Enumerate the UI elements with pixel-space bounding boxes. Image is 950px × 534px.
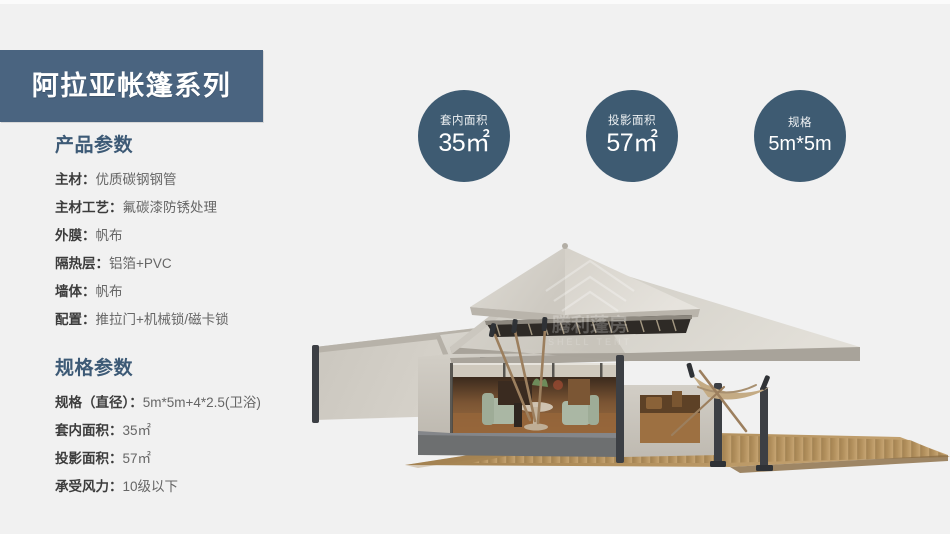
spec-label: 主材：	[55, 172, 96, 187]
spec-label: 投影面积：	[55, 451, 123, 466]
stat-label: 套内面积	[440, 116, 488, 128]
title-banner: 阿拉亚帐篷系列	[0, 50, 263, 122]
spec-value: 35㎡	[123, 423, 152, 438]
stat-value: 5m*5m	[768, 134, 831, 154]
spec-row: 墙体：帆布	[55, 278, 330, 306]
spec-label: 墙体：	[55, 284, 96, 299]
luxury-tent-render: 腾利蓬房 SHELL TENT	[300, 235, 950, 500]
spec-row: 承受风力：10级以下	[55, 473, 330, 501]
svg-text:腾利蓬房: 腾利蓬房	[551, 313, 628, 336]
stat-label: 规格	[788, 118, 812, 130]
stat-value: 57㎡	[606, 131, 657, 156]
stat-badge-dimensions: 规格 5m*5m	[754, 90, 846, 182]
spec-row: 主材：优质碳钢钢管	[55, 166, 330, 194]
page-title: 阿拉亚帐篷系列	[32, 73, 232, 100]
spec-row: 套内面积：35㎡	[55, 417, 330, 445]
spec-value: 优质碳钢钢管	[96, 172, 177, 187]
spec-label: 套内面积：	[55, 423, 123, 438]
spec-value: 推拉门+机械锁/磁卡锁	[96, 312, 229, 327]
spec-label: 主材工艺：	[55, 200, 123, 215]
spec-value: 氟碳漆防锈处理	[123, 200, 218, 215]
spec-row: 配置：推拉门+机械锁/磁卡锁	[55, 306, 330, 334]
spec-value: 铝箔+PVC	[109, 256, 172, 271]
spec-panel: 产品参数 主材：优质碳钢钢管 主材工艺：氟碳漆防锈处理 外膜：帆布 隔热层：铝箔…	[0, 130, 330, 501]
spec-label: 承受风力：	[55, 479, 123, 494]
spec-label: 外膜：	[55, 228, 96, 243]
spec-params-title: 规格参数	[55, 353, 330, 380]
spec-value: 帆布	[96, 284, 123, 299]
stat-label: 投影面积	[608, 116, 656, 128]
spec-label: 隔热层：	[55, 256, 109, 271]
stat-badge-projected-area: 投影面积 57㎡	[586, 90, 678, 182]
svg-text:SHELL TENT: SHELL TENT	[548, 337, 632, 347]
spec-params-section: 规格参数 规格（直径）：5m*5m+4*2.5(卫浴) 套内面积：35㎡ 投影面…	[0, 353, 330, 501]
spec-label: 配置：	[55, 312, 96, 327]
spec-row: 规格（直径）：5m*5m+4*2.5(卫浴)	[55, 389, 330, 417]
spec-row: 外膜：帆布	[55, 222, 330, 250]
stat-value: 35㎡	[438, 131, 489, 156]
spec-label: 规格（直径）：	[55, 395, 143, 410]
product-params-title: 产品参数	[55, 130, 330, 157]
product-params-section: 产品参数 主材：优质碳钢钢管 主材工艺：氟碳漆防锈处理 外膜：帆布 隔热层：铝箔…	[0, 130, 330, 334]
spec-value: 57㎡	[123, 451, 152, 466]
slide-canvas: 阿拉亚帐篷系列 产品参数 主材：优质碳钢钢管 主材工艺：氟碳漆防锈处理 外膜：帆…	[0, 0, 950, 534]
spec-value: 10级以下	[123, 479, 179, 494]
spec-value: 帆布	[96, 228, 123, 243]
spec-row: 主材工艺：氟碳漆防锈处理	[55, 194, 330, 222]
stat-badge-interior-area: 套内面积 35㎡	[418, 90, 510, 182]
spec-value: 5m*5m+4*2.5(卫浴)	[143, 395, 261, 410]
spec-row: 隔热层：铝箔+PVC	[55, 250, 330, 278]
spec-row: 投影面积：57㎡	[55, 445, 330, 473]
